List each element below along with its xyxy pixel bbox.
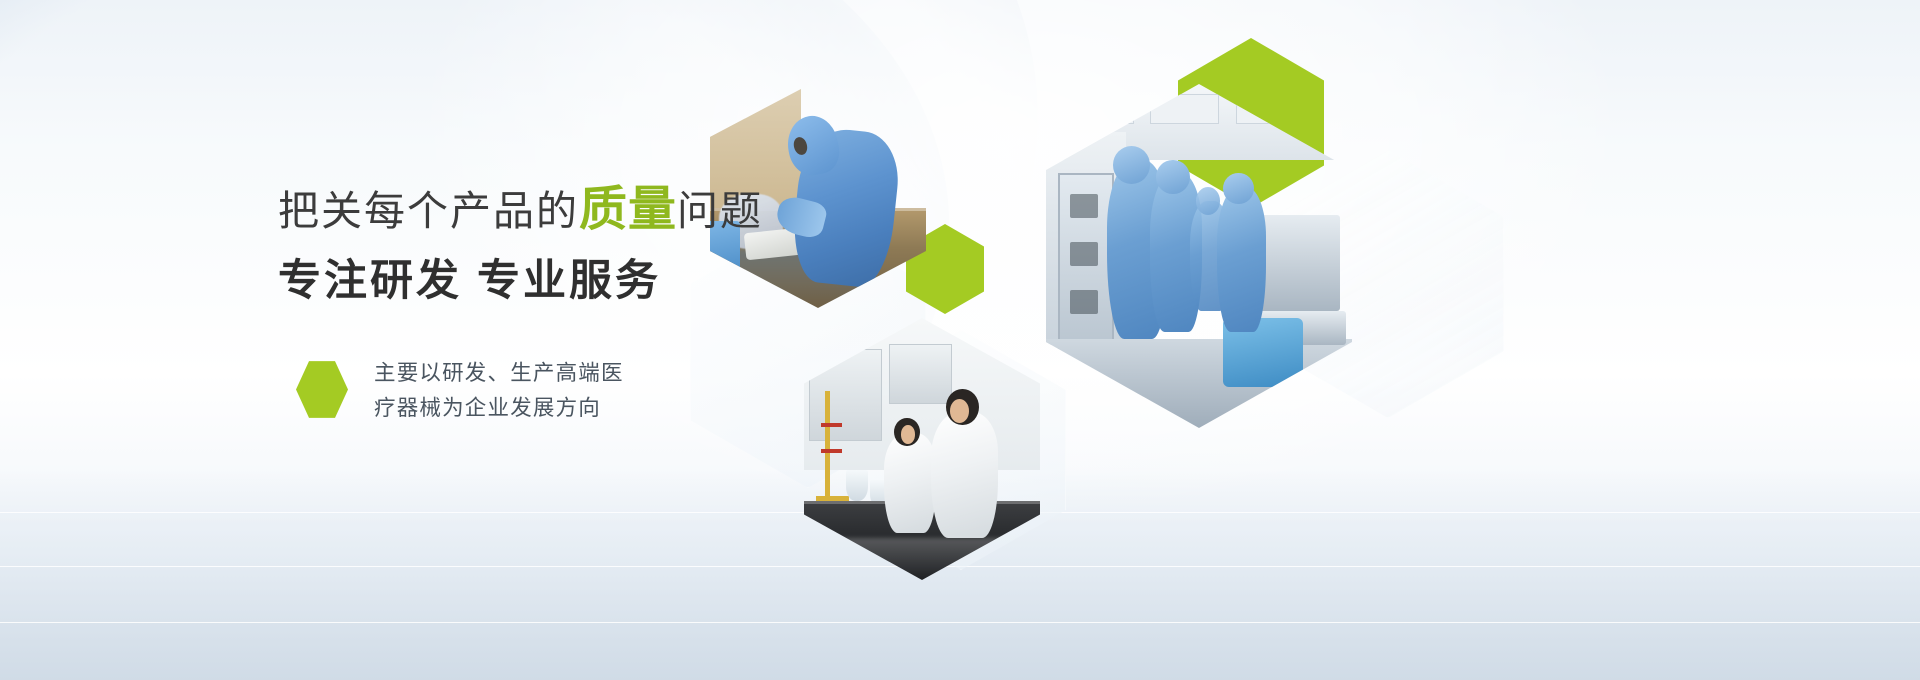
headline-text-before: 把关每个产品的 xyxy=(278,188,579,234)
headline-line-2: 专注研发 专业服务 xyxy=(278,260,748,303)
hero-banner: 把关每个产品的质量问题 专注研发 专业服务 主要以研发、生产高端医 疗器械为企业… xyxy=(0,0,1920,680)
headline-line-1: 把关每个产品的质量问题 xyxy=(278,186,748,234)
headline-text-after: 问题 xyxy=(677,188,763,234)
subtitle-row: 主要以研发、生产高端医 疗器械为企业发展方向 xyxy=(296,356,624,426)
hero-text-block: 把关每个产品的质量问题 专注研发 专业服务 xyxy=(278,186,748,303)
headline-highlight: 质量 xyxy=(579,183,677,236)
subtitle-line-1: 主要以研发、生产高端医 xyxy=(374,356,624,391)
hexagon-bullet-icon xyxy=(296,360,348,419)
floor-line xyxy=(0,622,1920,623)
subtitle-line-2: 疗器械为企业发展方向 xyxy=(374,391,624,426)
subtitle-text: 主要以研发、生产高端医 疗器械为企业发展方向 xyxy=(374,356,624,426)
